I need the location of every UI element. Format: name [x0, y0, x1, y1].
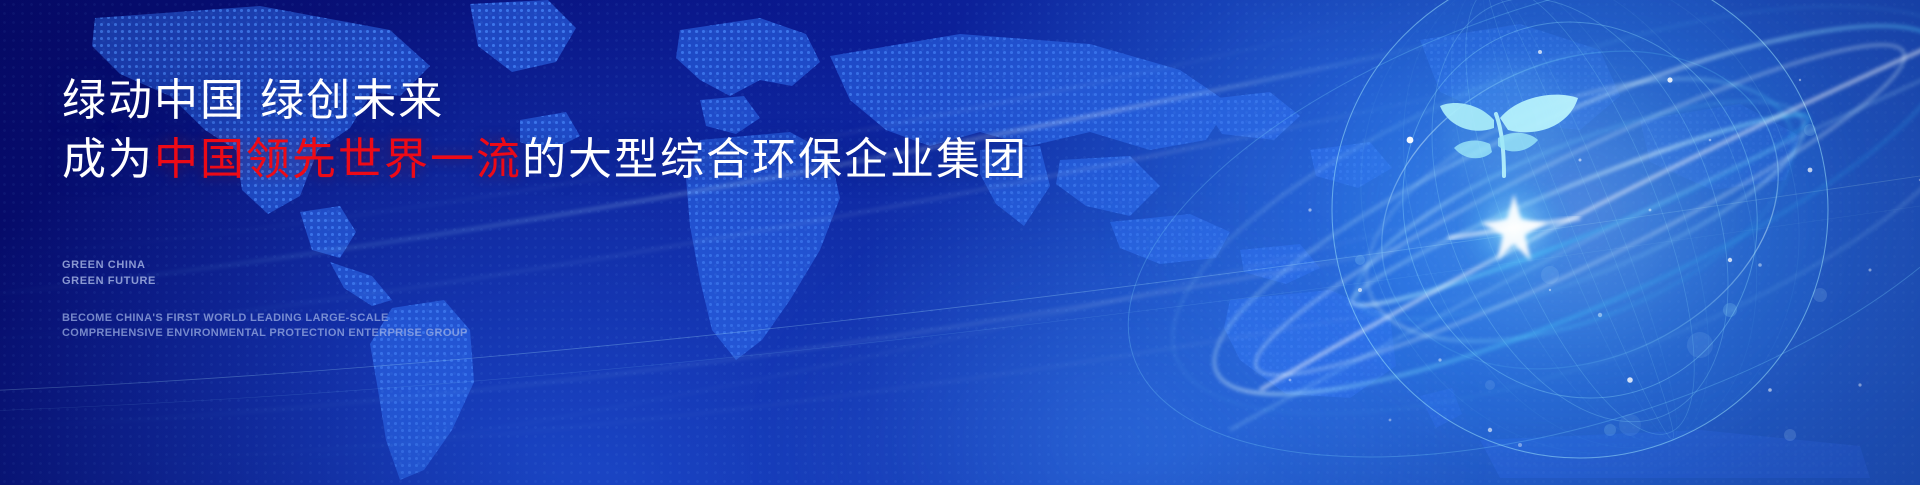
tagline-line-1: BECOME CHINA'S FIRST WORLD LEADING LARGE…	[62, 311, 468, 326]
headline-suffix: 的大型综合环保企业集团	[522, 135, 1028, 184]
tagline-line-2: COMPREHENSIVE ENVIRONMENTAL PROTECTION E…	[62, 326, 468, 341]
headline-line-2: 成为中国领先世界一流的大型综合环保企业集团	[62, 131, 1028, 188]
slogan-line-1: GREEN CHINA	[62, 258, 156, 274]
headline-highlight: 中国领先世界一流	[154, 135, 522, 184]
slogan-english: GREEN CHINA GREEN FUTURE	[62, 258, 156, 289]
hero-banner: 绿动中国 绿创未来 成为中国领先世界一流的大型综合环保企业集团 GREEN CH…	[0, 0, 1920, 485]
headline-block: 绿动中国 绿创未来 成为中国领先世界一流的大型综合环保企业集团	[62, 72, 1028, 188]
slogan-line-2: GREEN FUTURE	[62, 274, 156, 290]
wireframe-globe	[1110, 0, 1920, 485]
headline-line-1: 绿动中国 绿创未来	[62, 72, 1028, 129]
tagline-english: BECOME CHINA'S FIRST WORLD LEADING LARGE…	[62, 311, 468, 342]
headline-prefix: 成为	[62, 135, 154, 184]
